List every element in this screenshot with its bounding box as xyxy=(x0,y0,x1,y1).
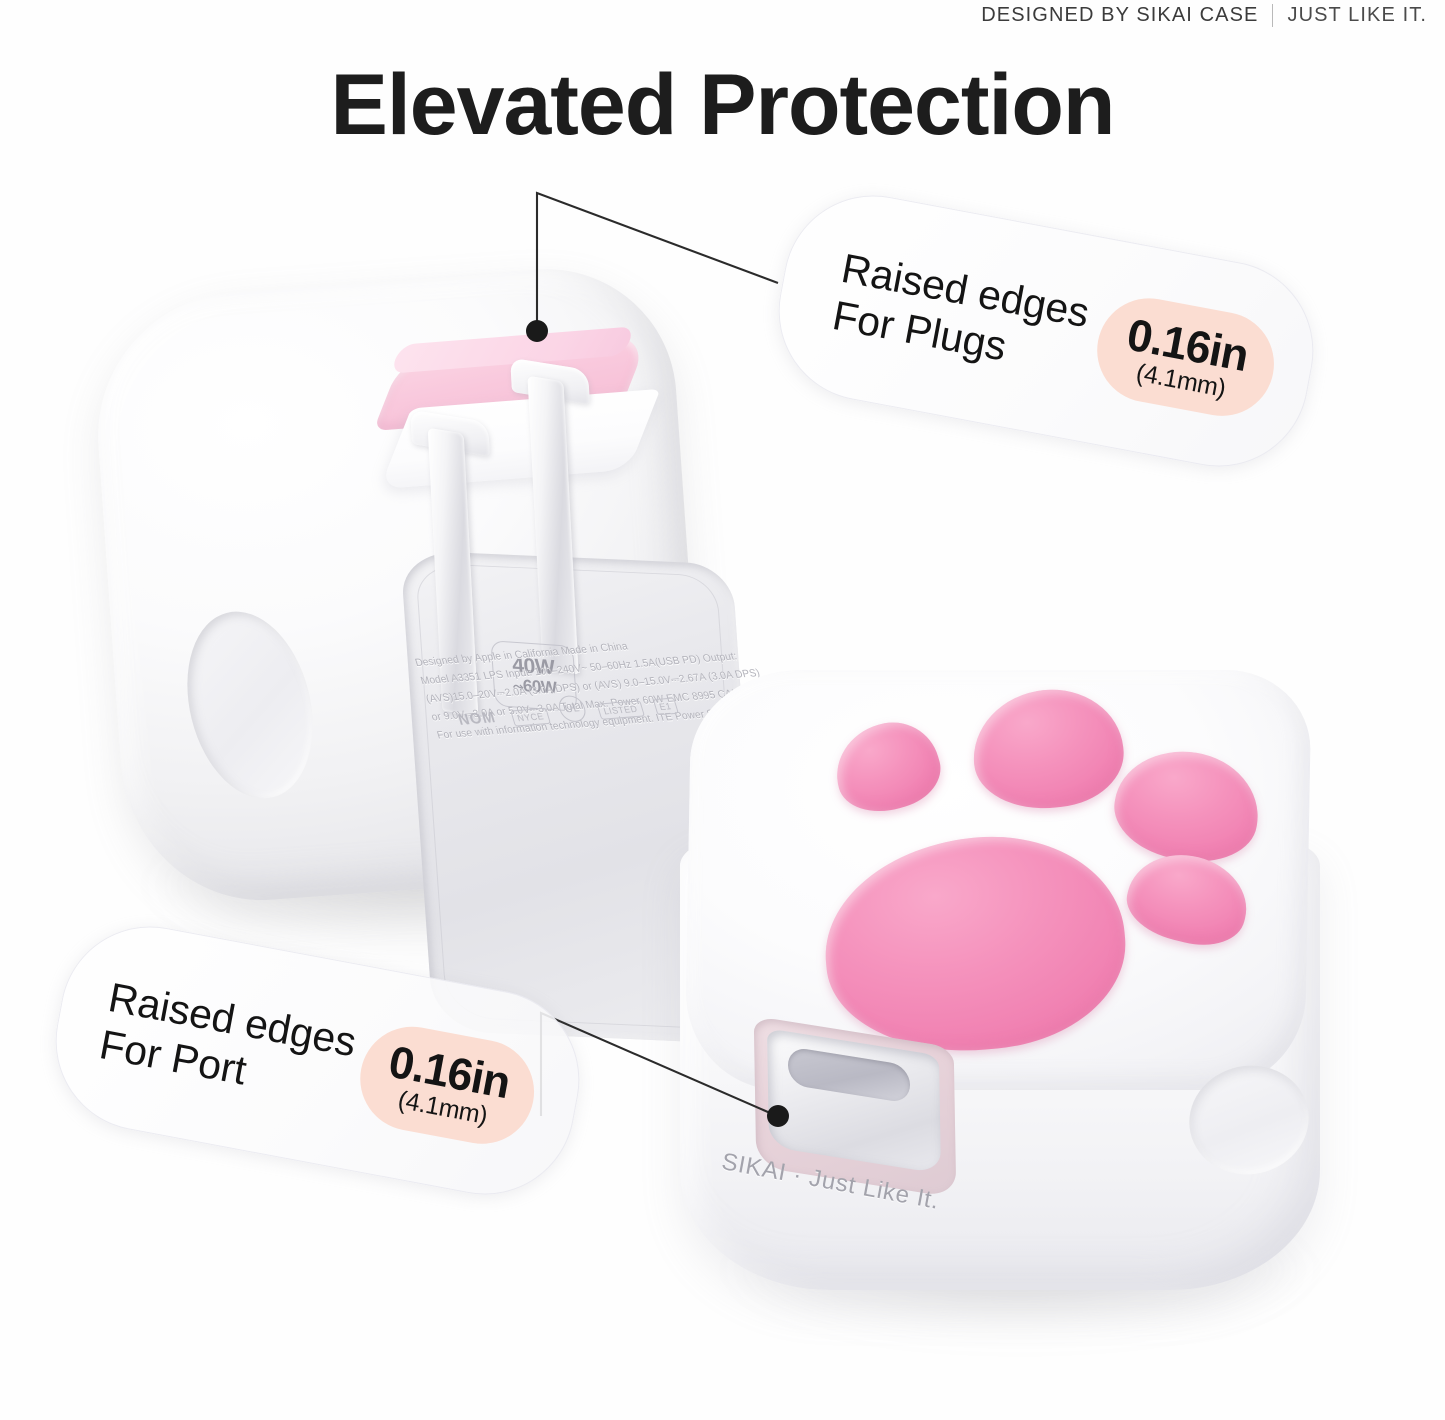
brand-tagline: JUST LIKE IT. xyxy=(1287,4,1427,27)
page-title: Elevated Protection xyxy=(0,62,1445,148)
paw-case-illustration: SIKAI · Just Like It. xyxy=(660,660,1360,1360)
nyce-cert-icon: NYCE xyxy=(510,708,551,727)
charger-illustration: 40W ⤳60W Designed by Apple in California… xyxy=(95,250,755,950)
nom-cert-icon: NOM xyxy=(452,707,503,732)
measurement-badge-plugs: 0.16in (4.1mm) xyxy=(1088,290,1282,425)
measurement-badge-port: 0.16in (4.1mm) xyxy=(351,1018,542,1152)
callout-port-text: Raised edges For Port xyxy=(96,974,360,1114)
listed-cert-icon: LISTED xyxy=(597,700,645,720)
header-divider xyxy=(1272,4,1273,27)
brand-name: DESIGNED BY SIKAI CASE xyxy=(981,4,1258,27)
callout-plugs: Raised edges For Plugs 0.16in (4.1mm) xyxy=(764,180,1329,481)
ul-cert-icon: UL xyxy=(556,695,589,723)
callout-plugs-text: Raised edges For Plugs xyxy=(829,245,1093,385)
product-marketing-image: DESIGNED BY SIKAI CASE JUST LIKE IT. Ele… xyxy=(0,0,1445,1420)
header-brand-bar: DESIGNED BY SIKAI CASE JUST LIKE IT. xyxy=(981,4,1427,27)
